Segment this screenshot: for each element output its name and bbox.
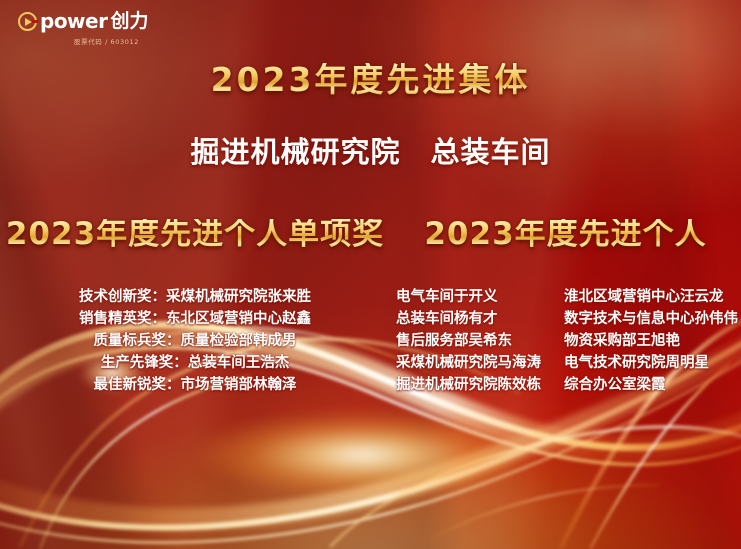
- section-headings: 2023年度先进个人单项奖 2023年度先进个人: [0, 219, 741, 250]
- winner-name: 售后服务部吴希东: [396, 332, 564, 350]
- winner-name: 总装车间杨有才: [396, 310, 564, 328]
- power-ring-icon: [18, 12, 37, 31]
- individual-award-list: 电气车间于开义 淮北区域营销中心汪云龙 总装车间杨有才 数字技术与信息中心孙伟伟…: [390, 288, 741, 394]
- winner-name: 电气技术研究院周明星: [564, 354, 709, 372]
- award-lists: 技术创新奖：采煤机械研究院张来胜 销售精英奖：东北区域营销中心赵鑫 质量标兵奖：…: [0, 288, 741, 394]
- heading-individual: 2023年度先进个人: [390, 219, 741, 250]
- winner-name: 数字技术与信息中心孙伟伟: [564, 310, 738, 328]
- logo-wordmark-cn: 创力: [110, 12, 148, 31]
- list-item: 总装车间杨有才 数字技术与信息中心孙伟伟: [396, 310, 741, 328]
- list-item: 质量标兵奖：质量检验部韩成男: [94, 332, 297, 350]
- company-logo: power 创力 股票代码 / 603012: [18, 11, 148, 46]
- winner-name: 综合办公室梁霞: [564, 376, 666, 394]
- winner-name: 物资采购部王旭艳: [564, 332, 680, 350]
- heading-individual-special: 2023年度先进个人单项奖: [0, 219, 390, 250]
- list-item: 售后服务部吴希东 物资采购部王旭艳: [396, 332, 741, 350]
- list-item: 采煤机械研究院马海涛 电气技术研究院周明星: [396, 354, 741, 372]
- list-item: 销售精英奖：东北区域营销中心赵鑫: [79, 310, 311, 328]
- logo-row: power 创力: [18, 11, 148, 31]
- winner-name: 电气车间于开义: [396, 288, 564, 306]
- list-item: 电气车间于开义 淮北区域营销中心汪云龙: [396, 288, 741, 306]
- logo-wordmark: power: [40, 11, 107, 31]
- ribbon-center-glow: [133, 395, 592, 515]
- winner-name: 采煤机械研究院马海涛: [396, 354, 564, 372]
- special-award-list: 技术创新奖：采煤机械研究院张来胜 销售精英奖：东北区域营销中心赵鑫 质量标兵奖：…: [0, 288, 390, 394]
- stock-code-label: 股票代码 / 603012: [74, 36, 139, 46]
- winner-name: 掘进机械研究院陈效栋: [396, 376, 564, 394]
- award-poster: power 创力 股票代码 / 603012 2023年度先进集体 掘进机械研究…: [0, 0, 741, 549]
- list-item: 技术创新奖：采煤机械研究院张来胜: [79, 288, 311, 306]
- page-title-collective: 2023年度先进集体: [0, 63, 741, 96]
- list-item: 生产先锋奖：总装车间王浩杰: [101, 354, 290, 372]
- list-item: 最佳新锐奖：市场营销部林翰泽: [94, 376, 297, 394]
- list-item: 掘进机械研究院陈效栋 综合办公室梁霞: [396, 376, 741, 394]
- collective-winner-units: 掘进机械研究院 总装车间: [0, 138, 741, 167]
- winner-name: 淮北区域营销中心汪云龙: [564, 288, 724, 306]
